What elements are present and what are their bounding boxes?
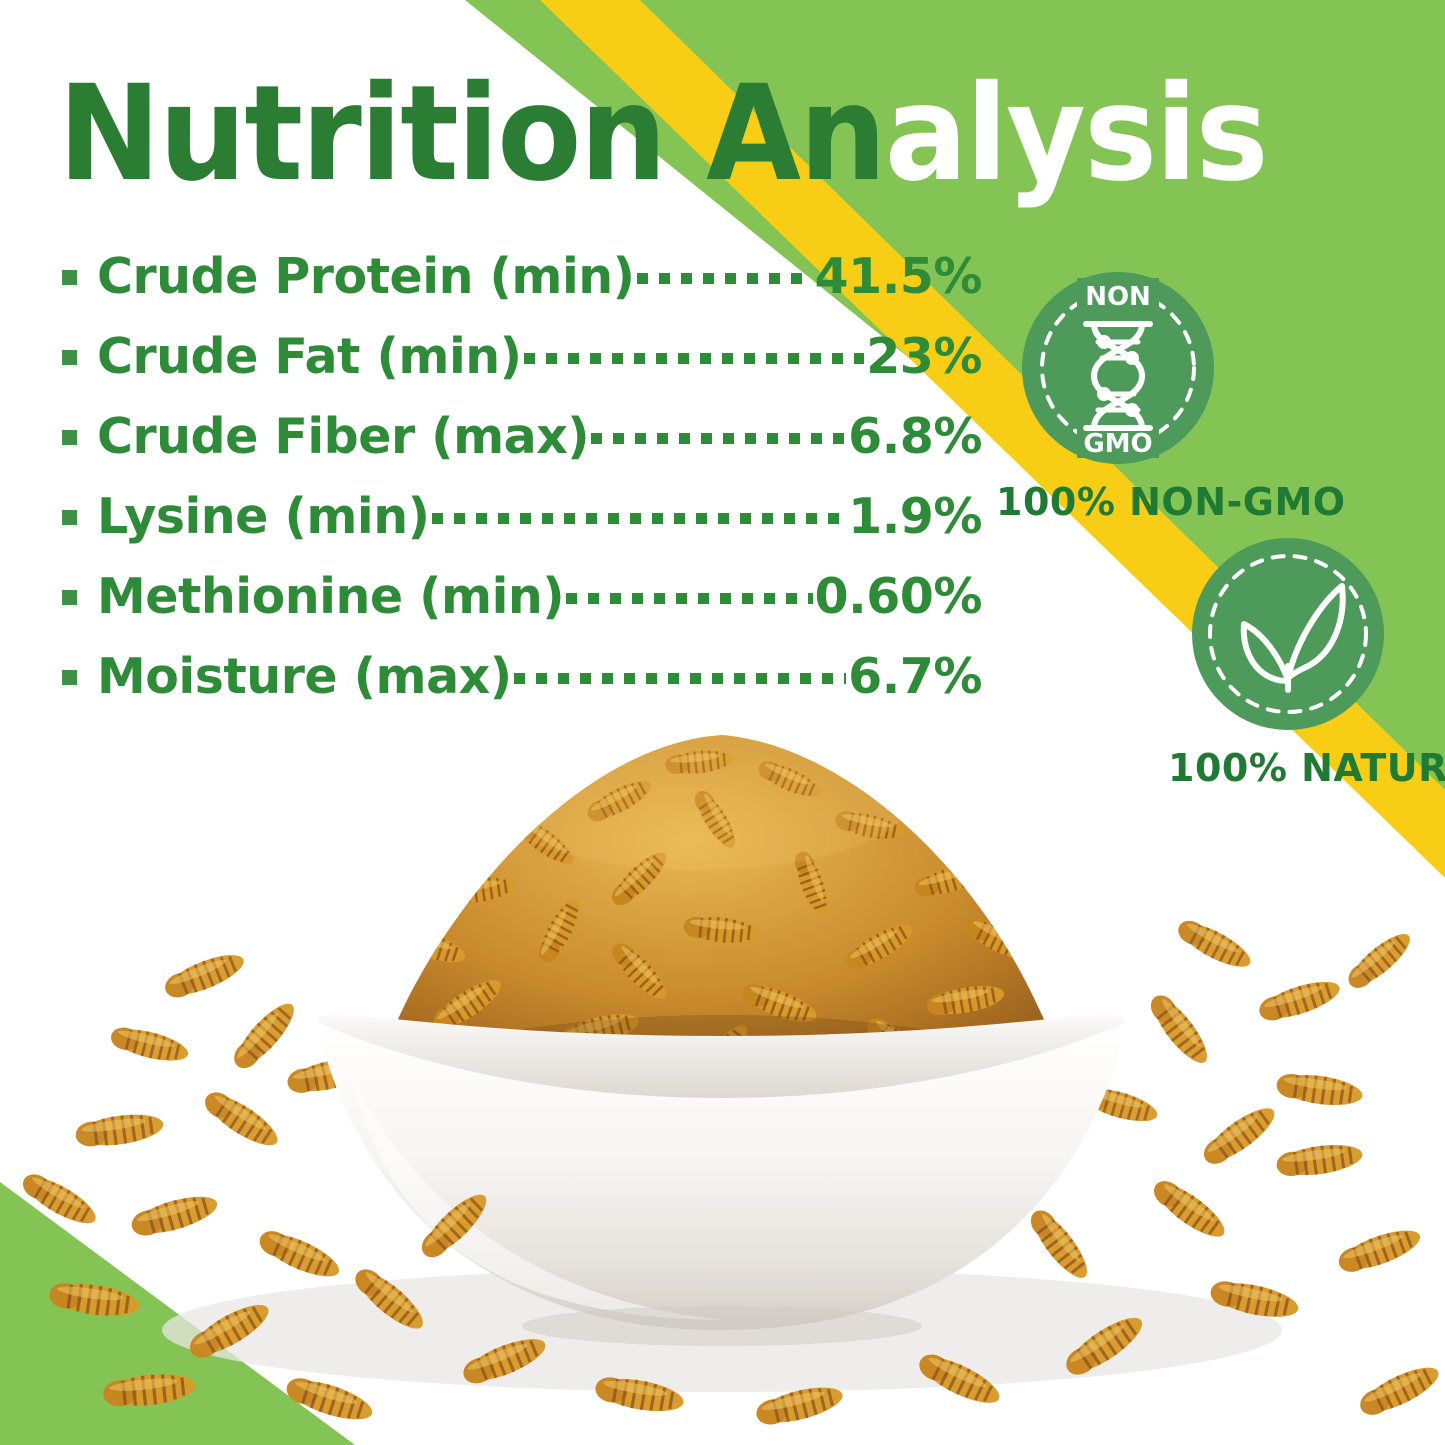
product-image xyxy=(0,0,1445,1445)
bowl-of-larvae-illustration xyxy=(0,0,1445,1445)
nutrition-analysis-infographic: Nutrition Analysis Crude Protein (min) 4… xyxy=(0,0,1445,1445)
